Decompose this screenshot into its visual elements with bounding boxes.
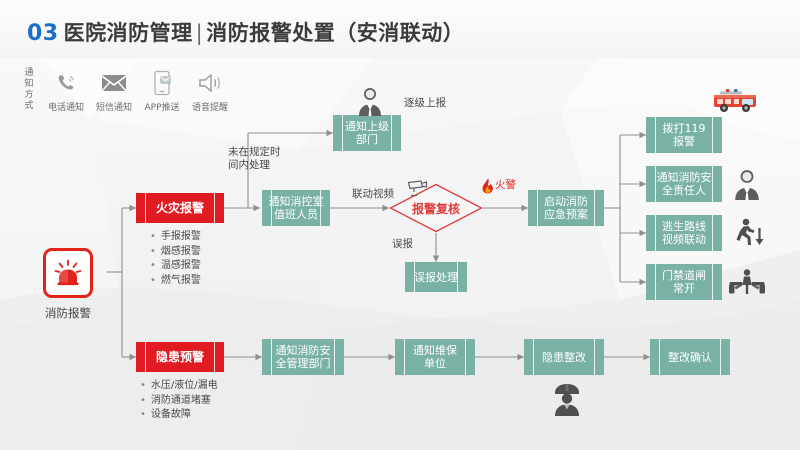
node-label: 通知消控室值班人员 — [267, 195, 326, 221]
title-sub: 消防报警处置（安消联动） — [206, 21, 464, 45]
speaker-icon — [186, 68, 234, 98]
hazard-warning-bullets: 水压/液位/漏电 消防通道堵塞 设备故障 — [140, 379, 218, 423]
hardhat-worker-icon — [552, 382, 582, 416]
cctv-camera-icon — [406, 179, 428, 197]
node-hazard-warning[interactable]: 隐患预警 — [136, 342, 224, 372]
envelope-icon — [90, 68, 138, 98]
node-label: 隐患整改 — [540, 351, 588, 364]
page-title: 03医院消防管理|消防报警处置（安消联动） — [27, 17, 464, 47]
label-not-handled-in-time: 未在规定时间内处理 — [228, 146, 281, 172]
node-rectification-confirm[interactable]: 整改确认 — [650, 339, 730, 375]
list-item: 水压/液位/漏电 — [140, 379, 218, 394]
list-item: 设备故障 — [140, 408, 218, 423]
node-escape-route-video[interactable]: 逃生路线视频联动 — [646, 215, 722, 251]
notification-methods-label: 通知方式 — [22, 68, 36, 112]
label-fire-confirmed: 火警 — [495, 179, 516, 192]
node-notify-responsible-person[interactable]: 通知消防安全责任人 — [646, 166, 722, 202]
list-item: 烟感报警 — [150, 245, 201, 260]
node-notify-fire-safety-dept[interactable]: 通知消防安全管理部门 — [262, 339, 344, 375]
fire-alarm-bullets: 手报报警 烟感报警 温感报警 燃气报警 — [150, 230, 201, 288]
node-label: 逃生路线视频联动 — [660, 220, 708, 246]
node-label: 火灾报警 — [154, 202, 206, 215]
notify-method-label: APP推送 — [138, 100, 186, 113]
list-item: 温感报警 — [150, 259, 201, 274]
alarm-source: 消防报警 — [30, 248, 106, 321]
node-call-119[interactable]: 拨打119报警 — [646, 117, 722, 153]
node-start-emergency-plan[interactable]: 启动消防应急预案 — [528, 190, 604, 226]
node-label: 通知上级部门 — [343, 120, 391, 146]
node-notify-control-room[interactable]: 通知消控室值班人员 — [262, 190, 330, 226]
running-exit-icon — [732, 218, 764, 248]
node-fire-alarm[interactable]: 火灾报警 — [136, 193, 224, 223]
barrier-gate-icon — [729, 268, 765, 296]
notify-method-phone[interactable]: 电话通知 — [42, 68, 90, 113]
notify-method-voice[interactable]: 语音提醒 — [186, 68, 234, 113]
label-escalate-report: 逐级上报 — [404, 97, 446, 110]
notify-method-label: 电话通知 — [42, 100, 90, 113]
notify-method-label: 语音提醒 — [186, 100, 234, 113]
businessman-icon — [355, 86, 385, 116]
notify-method-sms[interactable]: 短信通知 — [90, 68, 138, 113]
title-separator: | — [196, 21, 204, 45]
node-label: 通知消防安全责任人 — [655, 171, 714, 197]
alarm-siren-icon — [43, 248, 93, 298]
node-label: 拨打119报警 — [661, 122, 708, 148]
node-label: 误报处理 — [412, 271, 460, 284]
label-linked-video: 联动视频 — [352, 188, 394, 201]
node-label: 整改确认 — [666, 351, 714, 364]
fire-truck-icon — [712, 88, 758, 114]
notify-method-label: 短信通知 — [90, 100, 138, 113]
title-main: 医院消防管理 — [64, 21, 193, 45]
flame-icon — [481, 178, 495, 194]
node-false-alarm-handle[interactable]: 误报处理 — [405, 262, 467, 292]
alarm-source-label: 消防报警 — [30, 305, 106, 321]
slide-canvas: 03医院消防管理|消防报警处置（安消联动） 通知方式 电话通知 — [0, 0, 800, 450]
node-notify-superior[interactable]: 通知上级部门 — [333, 115, 401, 151]
list-item: 手报报警 — [150, 230, 201, 245]
responsible-person-icon — [731, 168, 763, 200]
node-label: 通知维保单位 — [411, 344, 459, 370]
label-false-alarm: 误报 — [392, 238, 413, 251]
page-number: 03 — [27, 21, 59, 46]
node-label: 门禁道闸常开 — [660, 269, 708, 295]
list-item: 燃气报警 — [150, 274, 201, 289]
node-hazard-rectification[interactable]: 隐患整改 — [524, 339, 604, 375]
list-item: 消防通道堵塞 — [140, 394, 218, 409]
notification-methods: 通知方式 电话通知 短信通知 — [22, 68, 234, 113]
phone-icon — [42, 68, 90, 98]
notify-method-app[interactable]: APP推送 — [138, 68, 186, 113]
node-label: 报警复核 — [412, 200, 460, 217]
node-label: 启动消防应急预案 — [542, 195, 590, 221]
node-notify-maintenance-unit[interactable]: 通知维保单位 — [395, 339, 475, 375]
mobile-icon — [138, 68, 186, 98]
node-label: 通知消防安全管理部门 — [274, 344, 333, 370]
node-label: 隐患预警 — [154, 351, 206, 364]
node-alarm-review[interactable]: 报警复核 — [389, 183, 483, 233]
node-gate-always-open[interactable]: 门禁道闸常开 — [646, 264, 722, 300]
